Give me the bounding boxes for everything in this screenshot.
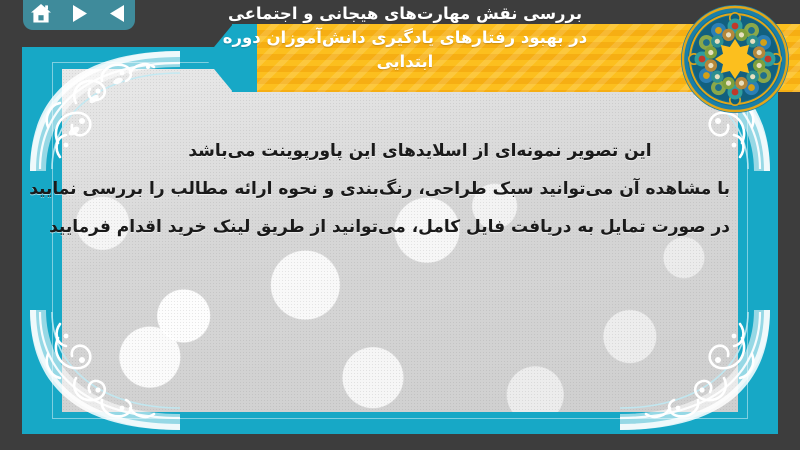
back-button[interactable] bbox=[104, 1, 130, 25]
body-line-1: این تصویر نمونه‌ای از اسلایدهای این پاور… bbox=[110, 132, 730, 170]
body-line-3: در صورت تمایل به دریافت فایل کامل، می‌تو… bbox=[110, 208, 730, 246]
body-line-2: با مشاهده آن می‌توانید سبک طراحی، رنگ‌بن… bbox=[110, 170, 730, 208]
home-icon bbox=[30, 3, 52, 24]
triangle-right-icon bbox=[71, 4, 88, 23]
persian-mandala-medallion-icon bbox=[678, 2, 792, 116]
navigation-toolbar bbox=[23, 0, 135, 30]
forward-button[interactable] bbox=[66, 1, 92, 25]
slide-canvas: بررسی نقش مهارت‌های هیجانی و اجتماعی در … bbox=[0, 0, 800, 450]
page-title: بررسی نقش مهارت‌های هیجانی و اجتماعی در … bbox=[40, 2, 770, 74]
home-button[interactable] bbox=[28, 1, 54, 25]
body-text-block: این تصویر نمونه‌ای از اسلایدهای این پاور… bbox=[110, 132, 730, 246]
triangle-left-icon bbox=[109, 4, 126, 23]
